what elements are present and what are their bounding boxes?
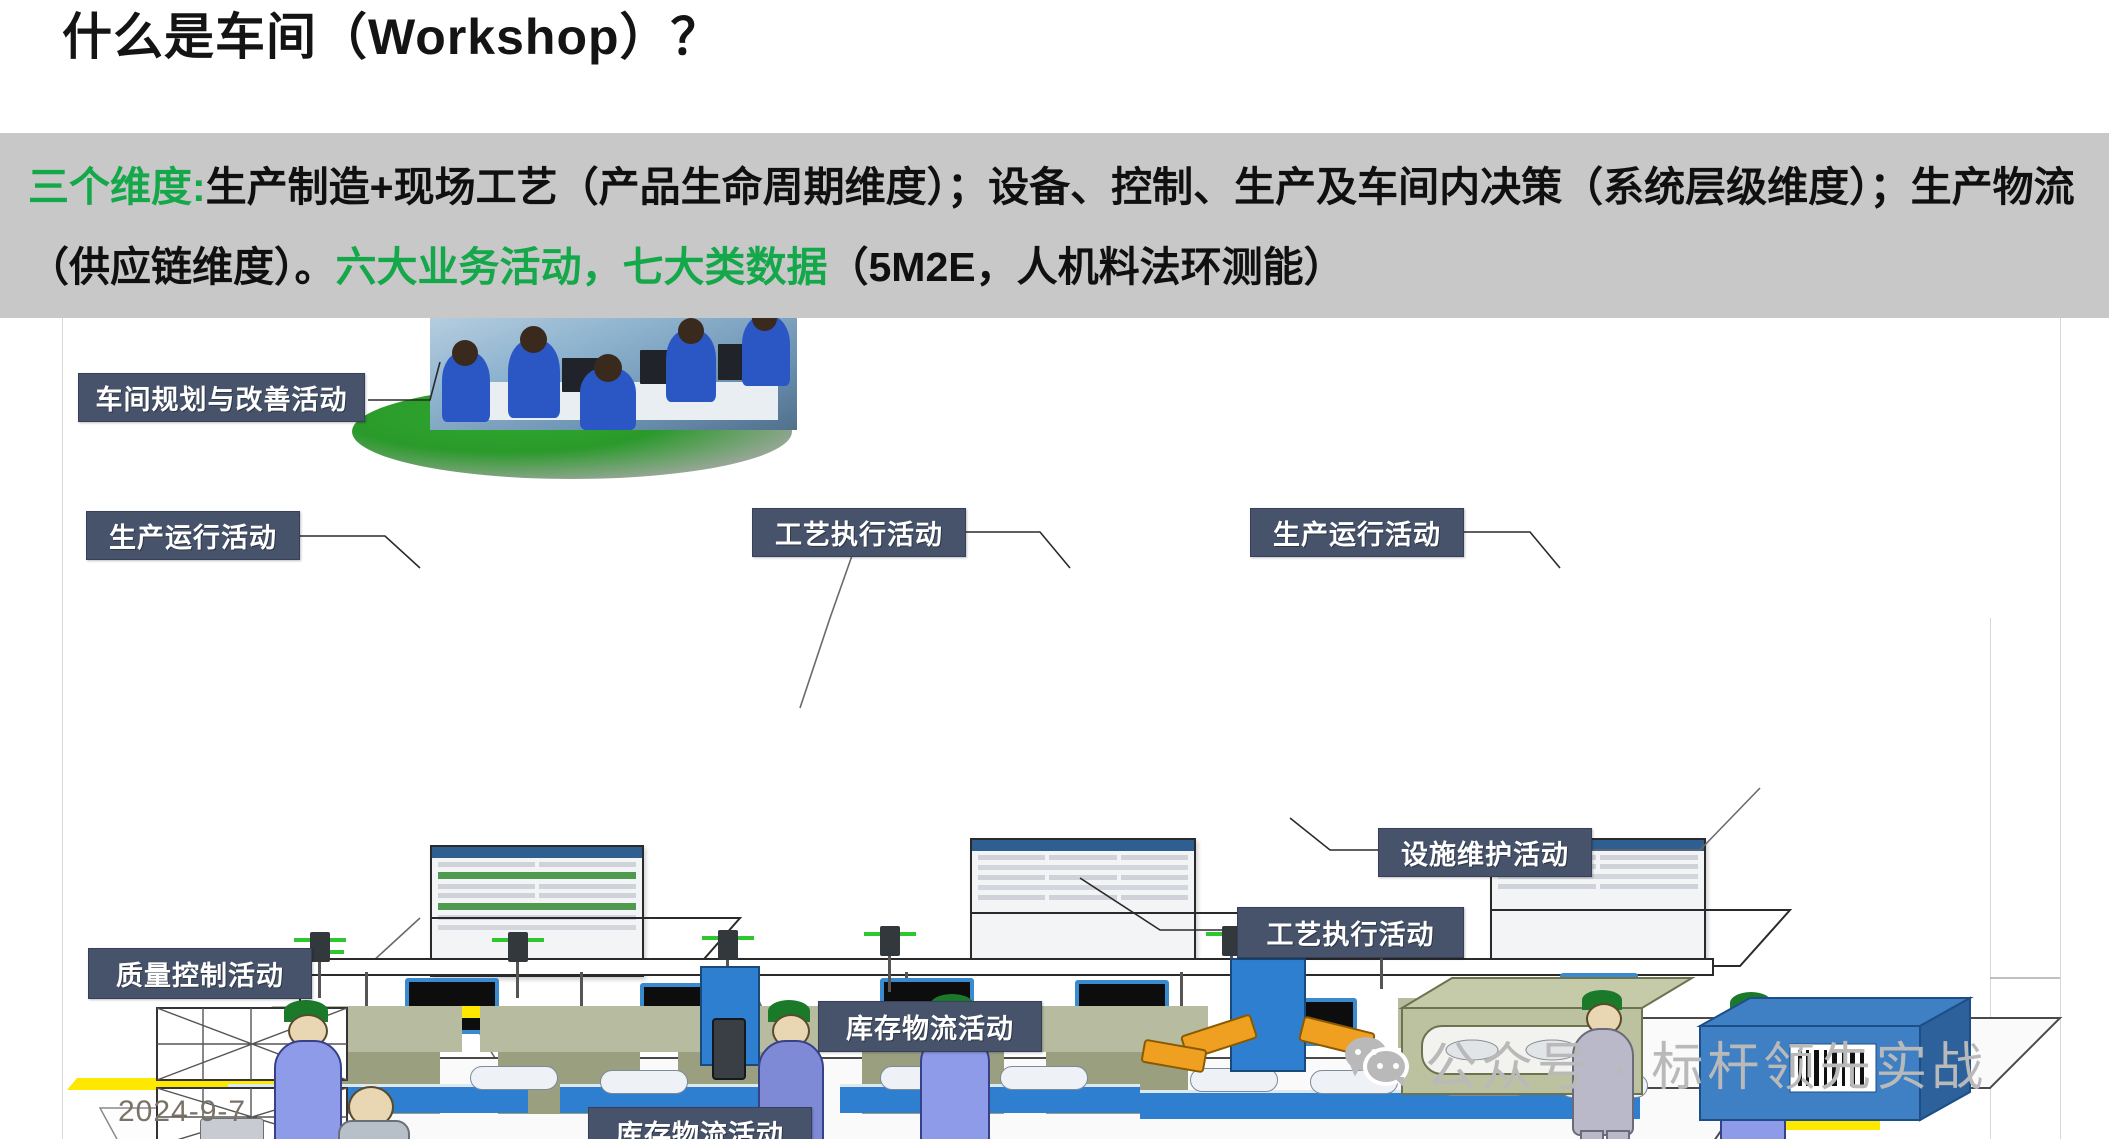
andon-box (880, 926, 900, 956)
panel-field-row (978, 875, 1188, 880)
panel-field-row (438, 925, 636, 930)
planning-photo (430, 318, 797, 430)
signal-ray (1206, 932, 1222, 936)
panel-field-row (978, 885, 1188, 890)
signal-ray (702, 936, 718, 940)
conveyor-workpiece (1310, 1070, 1398, 1094)
andon-box (508, 932, 528, 962)
callout-facility-maintenance[interactable]: 设施维护活动 (1378, 828, 1592, 877)
photo-person-head (678, 318, 704, 344)
panel-field-row (438, 884, 636, 889)
callout-production-run-left[interactable]: 生产运行活动 (86, 511, 300, 560)
callout-process-exec-top[interactable]: 工艺执行活动 (752, 508, 966, 557)
signal-ray (528, 938, 544, 942)
page-title: 什么是车间（Workshop）？ (62, 2, 1462, 72)
panel-titlebar (432, 847, 642, 858)
workshop-illustration: 车间规划与改善活动 生产运行活动 工艺执行活动 生产运行活动 设施维护活动 工艺… (0, 318, 2109, 1139)
robot-arm (712, 1018, 746, 1080)
panel-field-row (978, 865, 1188, 870)
callout-process-exec-bottom[interactable]: 工艺执行活动 (1237, 907, 1464, 958)
floor-marking (1834, 1018, 1938, 1128)
andon-box (310, 932, 330, 962)
worker-leg (1606, 1130, 1630, 1139)
panel-titlebar (972, 840, 1194, 851)
panel-field-row (978, 895, 1188, 900)
worker-body (1720, 1032, 1786, 1139)
andon-pole (1380, 953, 1383, 989)
guide-line-right (2060, 318, 2061, 1139)
summary-highlight: 六大业务活动，七大类数据 (336, 244, 828, 290)
summary-lead-label: 三个维度: (28, 164, 206, 210)
panel-section-header (438, 903, 636, 910)
callout-quality-control[interactable]: 质量控制活动 (88, 948, 312, 999)
conveyor-workpiece (1440, 1072, 1528, 1096)
panel-field-row (438, 862, 636, 867)
worker-body (1572, 1028, 1634, 1136)
signal-ray (330, 938, 346, 942)
operator-body (338, 1120, 410, 1139)
andon-box (718, 930, 738, 960)
conveyor-workpiece (1000, 1066, 1088, 1090)
panel-field-row (438, 915, 636, 920)
signal-ray (900, 932, 916, 936)
conveyor-workpiece (600, 1070, 688, 1094)
signal-ray (738, 936, 754, 940)
photo-person-head (594, 354, 622, 382)
andon-pole (318, 962, 321, 998)
workstation-bench (480, 1006, 660, 1052)
photo-person-head (520, 326, 547, 353)
panel-field-row (1498, 884, 1698, 889)
guide-line-left (62, 318, 63, 1139)
panel-field-row (438, 893, 636, 898)
andon-pole (888, 956, 891, 992)
summary-text: 三个维度:生产制造+现场工艺（产品生命周期维度）；设备、控制、生产及车间内决策（… (28, 147, 2109, 307)
worker-leg (1580, 1130, 1604, 1139)
conveyor-workpiece (470, 1066, 558, 1090)
andon-pole (516, 962, 519, 998)
summary-band: 三个维度:生产制造+现场工艺（产品生命周期维度）；设备、控制、生产及车间内决策（… (0, 133, 2109, 318)
process-visual-panel[interactable] (970, 838, 1196, 970)
signal-ray (492, 938, 508, 942)
photo-person-head (452, 340, 478, 366)
callout-workshop-planning[interactable]: 车间规划与改善活动 (78, 373, 365, 422)
guide-line-right2 (1990, 618, 1991, 1139)
signal-ray (864, 932, 880, 936)
summary-body-part2: （5M2E，人机料法环测能） (828, 244, 1345, 290)
callout-inventory-logistics-bot[interactable]: 库存物流活动 (588, 1107, 812, 1139)
signal-ray (330, 950, 344, 954)
signal-ray (294, 938, 310, 942)
panel-field-row (978, 855, 1188, 860)
slide-date: 2024-9-7 (118, 1095, 246, 1129)
worker-body (274, 1040, 342, 1139)
panel-section-header (438, 872, 636, 879)
callout-production-run-right[interactable]: 生产运行活动 (1250, 508, 1464, 557)
callout-inventory-logistics-mid[interactable]: 库存物流活动 (818, 1001, 1042, 1052)
